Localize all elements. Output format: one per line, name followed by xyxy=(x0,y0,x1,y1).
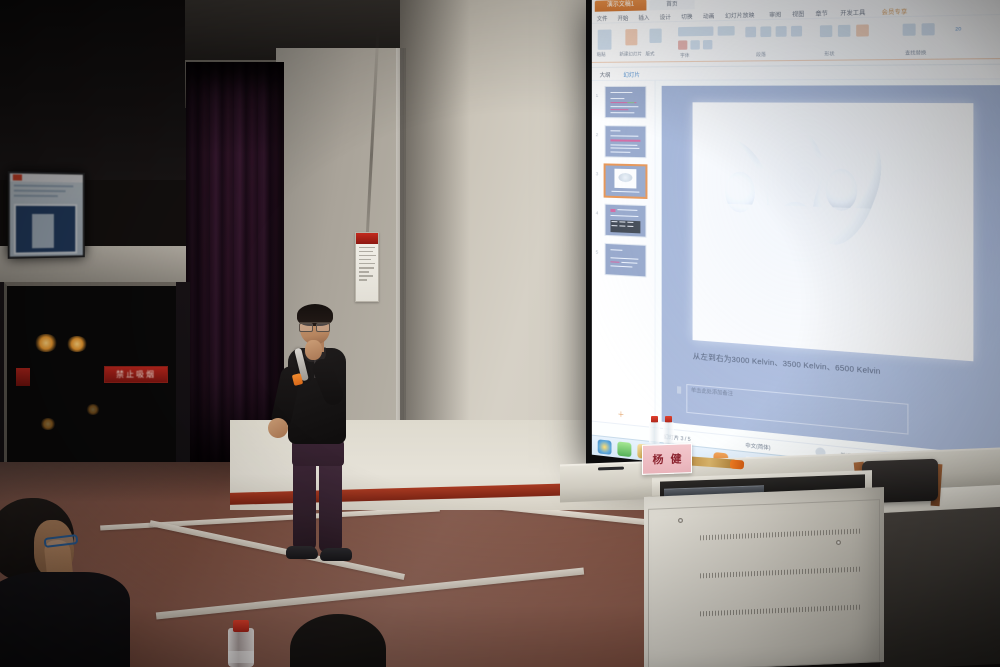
ribbon-group-paste: 粘贴 xyxy=(597,52,606,58)
ribbon-group-paragraph: 段落 xyxy=(756,52,766,58)
notice-header-bar xyxy=(356,233,378,244)
thumbnail-number: 2 xyxy=(596,132,598,137)
ribbon-group-find: 查找替换 xyxy=(905,50,926,57)
fill-color-icon[interactable] xyxy=(856,24,869,36)
menu-item-review[interactable]: 审阅 xyxy=(769,10,781,19)
thumbnail-number: 1 xyxy=(596,93,598,98)
door-warning-sign: 禁止吸烟 xyxy=(104,366,168,383)
shape-icon[interactable] xyxy=(820,25,832,37)
layout-icon[interactable] xyxy=(649,29,661,44)
corridor-light-glow xyxy=(40,418,56,430)
monitor-slide-figure xyxy=(32,214,54,248)
slide-editing-canvas[interactable]: 从左到右为3000 Kelvin、3500 Kelvin、6500 Kelvin… xyxy=(662,85,1000,461)
thumbnail-number: 4 xyxy=(596,210,598,215)
presenter-hand-right xyxy=(305,340,322,360)
tab-outline[interactable]: 大纲 xyxy=(600,71,611,79)
cabinet-lock[interactable] xyxy=(678,518,683,523)
image-overexposure-glow xyxy=(706,203,893,355)
font-size-value: 20 xyxy=(955,26,961,32)
lecture-hall-scene: 禁止吸烟 xyxy=(0,0,1000,667)
bottle-body xyxy=(663,422,674,444)
thumbnail-row: 3 xyxy=(606,165,655,197)
notice-text-line xyxy=(359,263,375,265)
slide-image-bulbs[interactable] xyxy=(693,103,973,362)
water-bottle-on-desk[interactable] xyxy=(649,416,660,444)
notice-text-line xyxy=(359,251,373,253)
speaker-name-placard: 杨 健 xyxy=(642,443,692,475)
presenter xyxy=(262,300,382,570)
menu-item-design[interactable]: 设计 xyxy=(660,13,671,21)
replace-icon[interactable] xyxy=(922,23,935,35)
thumbnail-row: 4 xyxy=(606,205,655,237)
presenter-leg-left xyxy=(293,460,316,550)
presenter-leg-right xyxy=(319,460,342,552)
monitor-app-tab xyxy=(13,174,22,180)
notes-resize-handle[interactable] xyxy=(677,386,681,394)
bottle-label xyxy=(228,651,254,663)
menu-item-section[interactable]: 章节 xyxy=(815,9,827,18)
menu-item-developer[interactable]: 开发工具 xyxy=(840,8,865,17)
corridor-light-glow xyxy=(66,336,88,352)
door-sign-text: 禁止吸烟 xyxy=(116,369,156,380)
ribbon-group-layout: 版式 xyxy=(645,51,654,57)
slide-notes-placeholder[interactable]: 单击此处添加备注 xyxy=(686,384,909,435)
monitor-toolbar-line xyxy=(14,185,73,187)
browser-icon[interactable] xyxy=(598,439,612,455)
slide-thumbnail-5[interactable] xyxy=(606,244,646,276)
menu-item-transition[interactable]: 切换 xyxy=(681,12,692,21)
bold-icon[interactable] xyxy=(678,40,687,49)
menu-item-slideshow[interactable]: 幻灯片放映 xyxy=(725,11,754,20)
status-language[interactable]: 中文(简体) xyxy=(745,441,770,451)
thumbnail-row: 5 xyxy=(606,244,655,277)
notice-text-line xyxy=(359,275,373,277)
thumbnail-row: 1 xyxy=(606,87,655,118)
ribbon-group-shape: 形状 xyxy=(824,51,834,58)
placard-given-name: 健 xyxy=(671,450,682,466)
pointer-orange-tip xyxy=(730,460,745,470)
bullet-list-icon[interactable] xyxy=(745,27,756,38)
presenter-shoe-right xyxy=(320,548,352,561)
arrange-icon[interactable] xyxy=(838,25,851,37)
presenter-glasses xyxy=(299,322,330,329)
confidence-monitor xyxy=(8,171,85,259)
notice-text-line xyxy=(359,279,367,281)
menu-item-animation[interactable]: 动画 xyxy=(703,12,715,21)
wechat-icon[interactable] xyxy=(617,441,631,457)
notice-text-line xyxy=(359,259,371,261)
door-small-red-sign xyxy=(16,368,30,386)
slide-thumbnail-4[interactable] xyxy=(606,205,646,237)
align-center-icon[interactable] xyxy=(791,26,802,37)
corridor-light-glow xyxy=(34,334,58,352)
ribbon-group-font: 字体 xyxy=(680,53,689,59)
water-bottle-on-desk[interactable] xyxy=(663,416,674,444)
slide-thumbnail-3[interactable] xyxy=(606,165,646,196)
number-list-icon[interactable] xyxy=(760,26,771,37)
menu-item-insert[interactable]: 插入 xyxy=(638,13,649,21)
thumbnail-number: 3 xyxy=(596,171,598,176)
menu-item-member[interactable]: 会员专享 xyxy=(882,7,908,16)
bottle-body xyxy=(649,422,660,444)
wall-notice-sign xyxy=(355,232,379,302)
add-slide-button[interactable]: ＋ xyxy=(617,409,624,420)
lectern-access-panel[interactable] xyxy=(648,499,880,667)
italic-icon[interactable] xyxy=(690,40,699,49)
placard-surname: 杨 xyxy=(653,451,664,467)
presenter-shoe-left xyxy=(286,546,318,559)
font-name-dropdown[interactable] xyxy=(678,26,713,36)
slide-thumbnail-panel[interactable]: 1 2 xyxy=(592,81,656,427)
paste-icon[interactable] xyxy=(598,29,612,49)
notice-text-line xyxy=(359,255,376,257)
thumbnail-number: 5 xyxy=(596,249,598,254)
underline-icon[interactable] xyxy=(703,40,712,49)
new-slide-icon[interactable] xyxy=(625,29,637,45)
font-size-dropdown[interactable] xyxy=(718,26,735,36)
bottle-cap xyxy=(233,620,249,632)
monitor-toolbar-line xyxy=(14,190,66,192)
audience-member-shoulders xyxy=(0,572,130,667)
ribbon-group-new-slide: 新建幻灯片 xyxy=(619,51,641,57)
tab-slides[interactable]: 幻灯片 xyxy=(623,71,640,79)
align-left-icon[interactable] xyxy=(776,26,787,37)
notice-text-line xyxy=(359,271,369,273)
thumbnail-row: 2 xyxy=(606,126,655,157)
wps-outline-slide-toggle-bar: 大纲 幻灯片 xyxy=(592,64,1000,81)
cabinet-lock[interactable] xyxy=(836,540,841,545)
slide-thumbnail-2[interactable] xyxy=(606,126,646,157)
notice-text-line xyxy=(359,247,375,249)
menu-item-file[interactable]: 文件 xyxy=(597,14,608,22)
lectern-side-shadow xyxy=(880,507,1000,667)
monitor-toolbar-line xyxy=(14,195,58,197)
menu-item-view[interactable]: 视图 xyxy=(792,10,804,19)
notes-placeholder-text: 单击此处添加备注 xyxy=(691,386,733,397)
notice-text-line xyxy=(359,267,374,269)
search-icon[interactable] xyxy=(903,23,916,35)
wps-document-tab-active[interactable]: 演示文稿1 xyxy=(595,0,647,12)
confidence-monitor-screen xyxy=(10,173,83,257)
wps-document-tab[interactable]: 首页 xyxy=(649,0,694,10)
water-bottle-foreground[interactable] xyxy=(228,620,254,667)
menu-item-home[interactable]: 开始 xyxy=(617,14,628,22)
slide-thumbnail-1[interactable] xyxy=(606,87,646,118)
corridor-light-glow xyxy=(86,404,100,415)
